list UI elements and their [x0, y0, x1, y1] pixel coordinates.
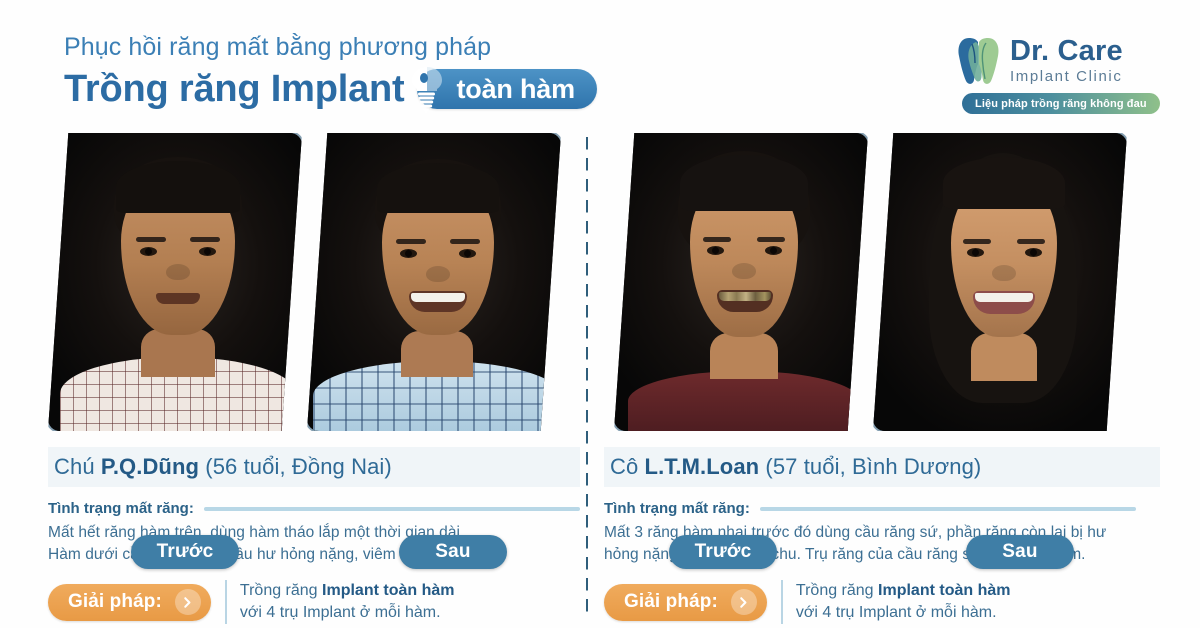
- solution-row: Giải pháp: Trồng răng Implant toàn hàm v…: [604, 580, 1136, 624]
- teeth-restored: [975, 293, 1033, 302]
- photo-left-after-image: [307, 133, 561, 431]
- badge-label: Sau: [1002, 541, 1037, 563]
- badge-before-left: Trước: [131, 535, 239, 569]
- logo-tagline-pill: Liệu pháp trồng răng không đau: [962, 93, 1160, 114]
- badge-after-right: Sau: [966, 535, 1074, 569]
- patient-title-prefix: Cô: [610, 454, 645, 479]
- patient-name-suffix: (57 tuổi, Bình Dương): [759, 454, 981, 479]
- photo-left-before: [48, 133, 302, 431]
- logo-tagline-text: Liệu pháp trồng răng không đau: [975, 98, 1147, 110]
- badge-label: Trước: [157, 541, 214, 563]
- solution-bold: Implant toàn hàm: [322, 582, 454, 599]
- badge-label: Trước: [695, 541, 752, 563]
- patient-panel-left: Chú P.Q.Dũng (56 tuổi, Đồng Nai) Tình tr…: [48, 447, 580, 624]
- solution-text: Trồng răng Implant toàn hàm với 4 trụ Im…: [240, 580, 455, 624]
- patient-name-bold: P.Q.Dũng: [101, 454, 199, 479]
- photo-left-before-image: [48, 133, 302, 431]
- solution-line-1: Trồng răng Implant toàn hàm: [240, 580, 455, 602]
- logo-name: Dr. Care: [1010, 36, 1123, 66]
- header: Phục hồi răng mất bằng phương pháp Trồng…: [0, 0, 1200, 128]
- solution-button-label: Giải pháp:: [624, 591, 718, 613]
- photo-gallery: Trước Sau Trước Sau: [0, 133, 1200, 433]
- logo-top-row: Dr. Care Implant Clinic: [956, 34, 1156, 86]
- solution-prefix: Trồng răng: [240, 582, 322, 599]
- condition-header: Tình trạng mất răng:: [48, 500, 580, 517]
- dental-implant-screw-icon: [405, 63, 447, 115]
- condition-header: Tình trạng mất răng:: [604, 500, 1136, 517]
- chevron-right-icon: [731, 589, 757, 615]
- patient-name: Chú P.Q.Dũng (56 tuổi, Đồng Nai): [54, 454, 392, 480]
- patient-name-bold: L.T.M.Loan: [645, 454, 760, 479]
- condition-rule: [204, 507, 580, 511]
- main-headline: Trồng răng Implant: [64, 67, 405, 111]
- toan-ham-pill: toàn hàm: [417, 69, 597, 109]
- condition-label: Tình trạng mất răng:: [48, 500, 194, 517]
- badge-after-left: Sau: [399, 535, 507, 569]
- patient-name: Cô L.T.M.Loan (57 tuổi, Bình Dương): [610, 454, 981, 480]
- solution-separator: [225, 580, 227, 624]
- headline-row: Trồng răng Implant: [64, 66, 597, 112]
- badge-before-right: Trước: [669, 535, 777, 569]
- poster-canvas: Phục hồi răng mất bằng phương pháp Trồng…: [0, 0, 1200, 628]
- patient-name-suffix: (56 tuổi, Đồng Nai): [199, 454, 392, 479]
- solution-line-2: với 4 trụ Implant ở mỗi hàm.: [240, 602, 455, 624]
- vertical-dashed-divider: [586, 137, 588, 615]
- solution-separator: [781, 580, 783, 624]
- solution-prefix: Trồng răng: [796, 582, 878, 599]
- solution-button-label: Giải pháp:: [68, 591, 162, 613]
- solution-button[interactable]: Giải pháp:: [604, 584, 767, 621]
- condition-rule: [760, 507, 1136, 511]
- chevron-right-glyph: [737, 596, 750, 609]
- chevron-right-glyph: [181, 596, 194, 609]
- logo-text-group: Dr. Care Implant Clinic: [1010, 34, 1123, 86]
- photo-right-after: [873, 133, 1127, 431]
- badge-label: Sau: [435, 541, 470, 563]
- photo-right-before: [614, 133, 868, 431]
- teeth-restored: [411, 293, 465, 302]
- solution-button[interactable]: Giải pháp:: [48, 584, 211, 621]
- chevron-right-icon: [175, 589, 201, 615]
- tooth-leaf-logo-icon: [956, 34, 1002, 86]
- solution-row: Giải pháp: Trồng răng Implant toàn hàm v…: [48, 580, 580, 624]
- photo-right-before-image: [614, 133, 868, 431]
- solution-line-2: với 4 trụ Implant ở mỗi hàm.: [796, 602, 1011, 624]
- toan-ham-label: toàn hàm: [457, 74, 575, 105]
- photo-right-after-image: [873, 133, 1127, 431]
- brand-logo: Dr. Care Implant Clinic Liệu pháp trồng …: [956, 34, 1156, 114]
- teeth-damaged: [719, 292, 771, 301]
- condition-label: Tình trạng mất răng:: [604, 500, 750, 517]
- photo-left-after: [307, 133, 561, 431]
- patient-name-band: Cô L.T.M.Loan (57 tuổi, Bình Dương): [604, 447, 1160, 487]
- logo-subtitle: Implant Clinic: [1010, 68, 1123, 86]
- sub-headline: Phục hồi răng mất bằng phương pháp: [64, 32, 597, 62]
- patient-name-band: Chú P.Q.Dũng (56 tuổi, Đồng Nai): [48, 447, 580, 487]
- patient-title-prefix: Chú: [54, 454, 101, 479]
- solution-bold: Implant toàn hàm: [878, 582, 1010, 599]
- solution-text: Trồng răng Implant toàn hàm với 4 trụ Im…: [796, 580, 1011, 624]
- solution-line-1: Trồng răng Implant toàn hàm: [796, 580, 1011, 602]
- headline-group: Phục hồi răng mất bằng phương pháp Trồng…: [64, 32, 597, 112]
